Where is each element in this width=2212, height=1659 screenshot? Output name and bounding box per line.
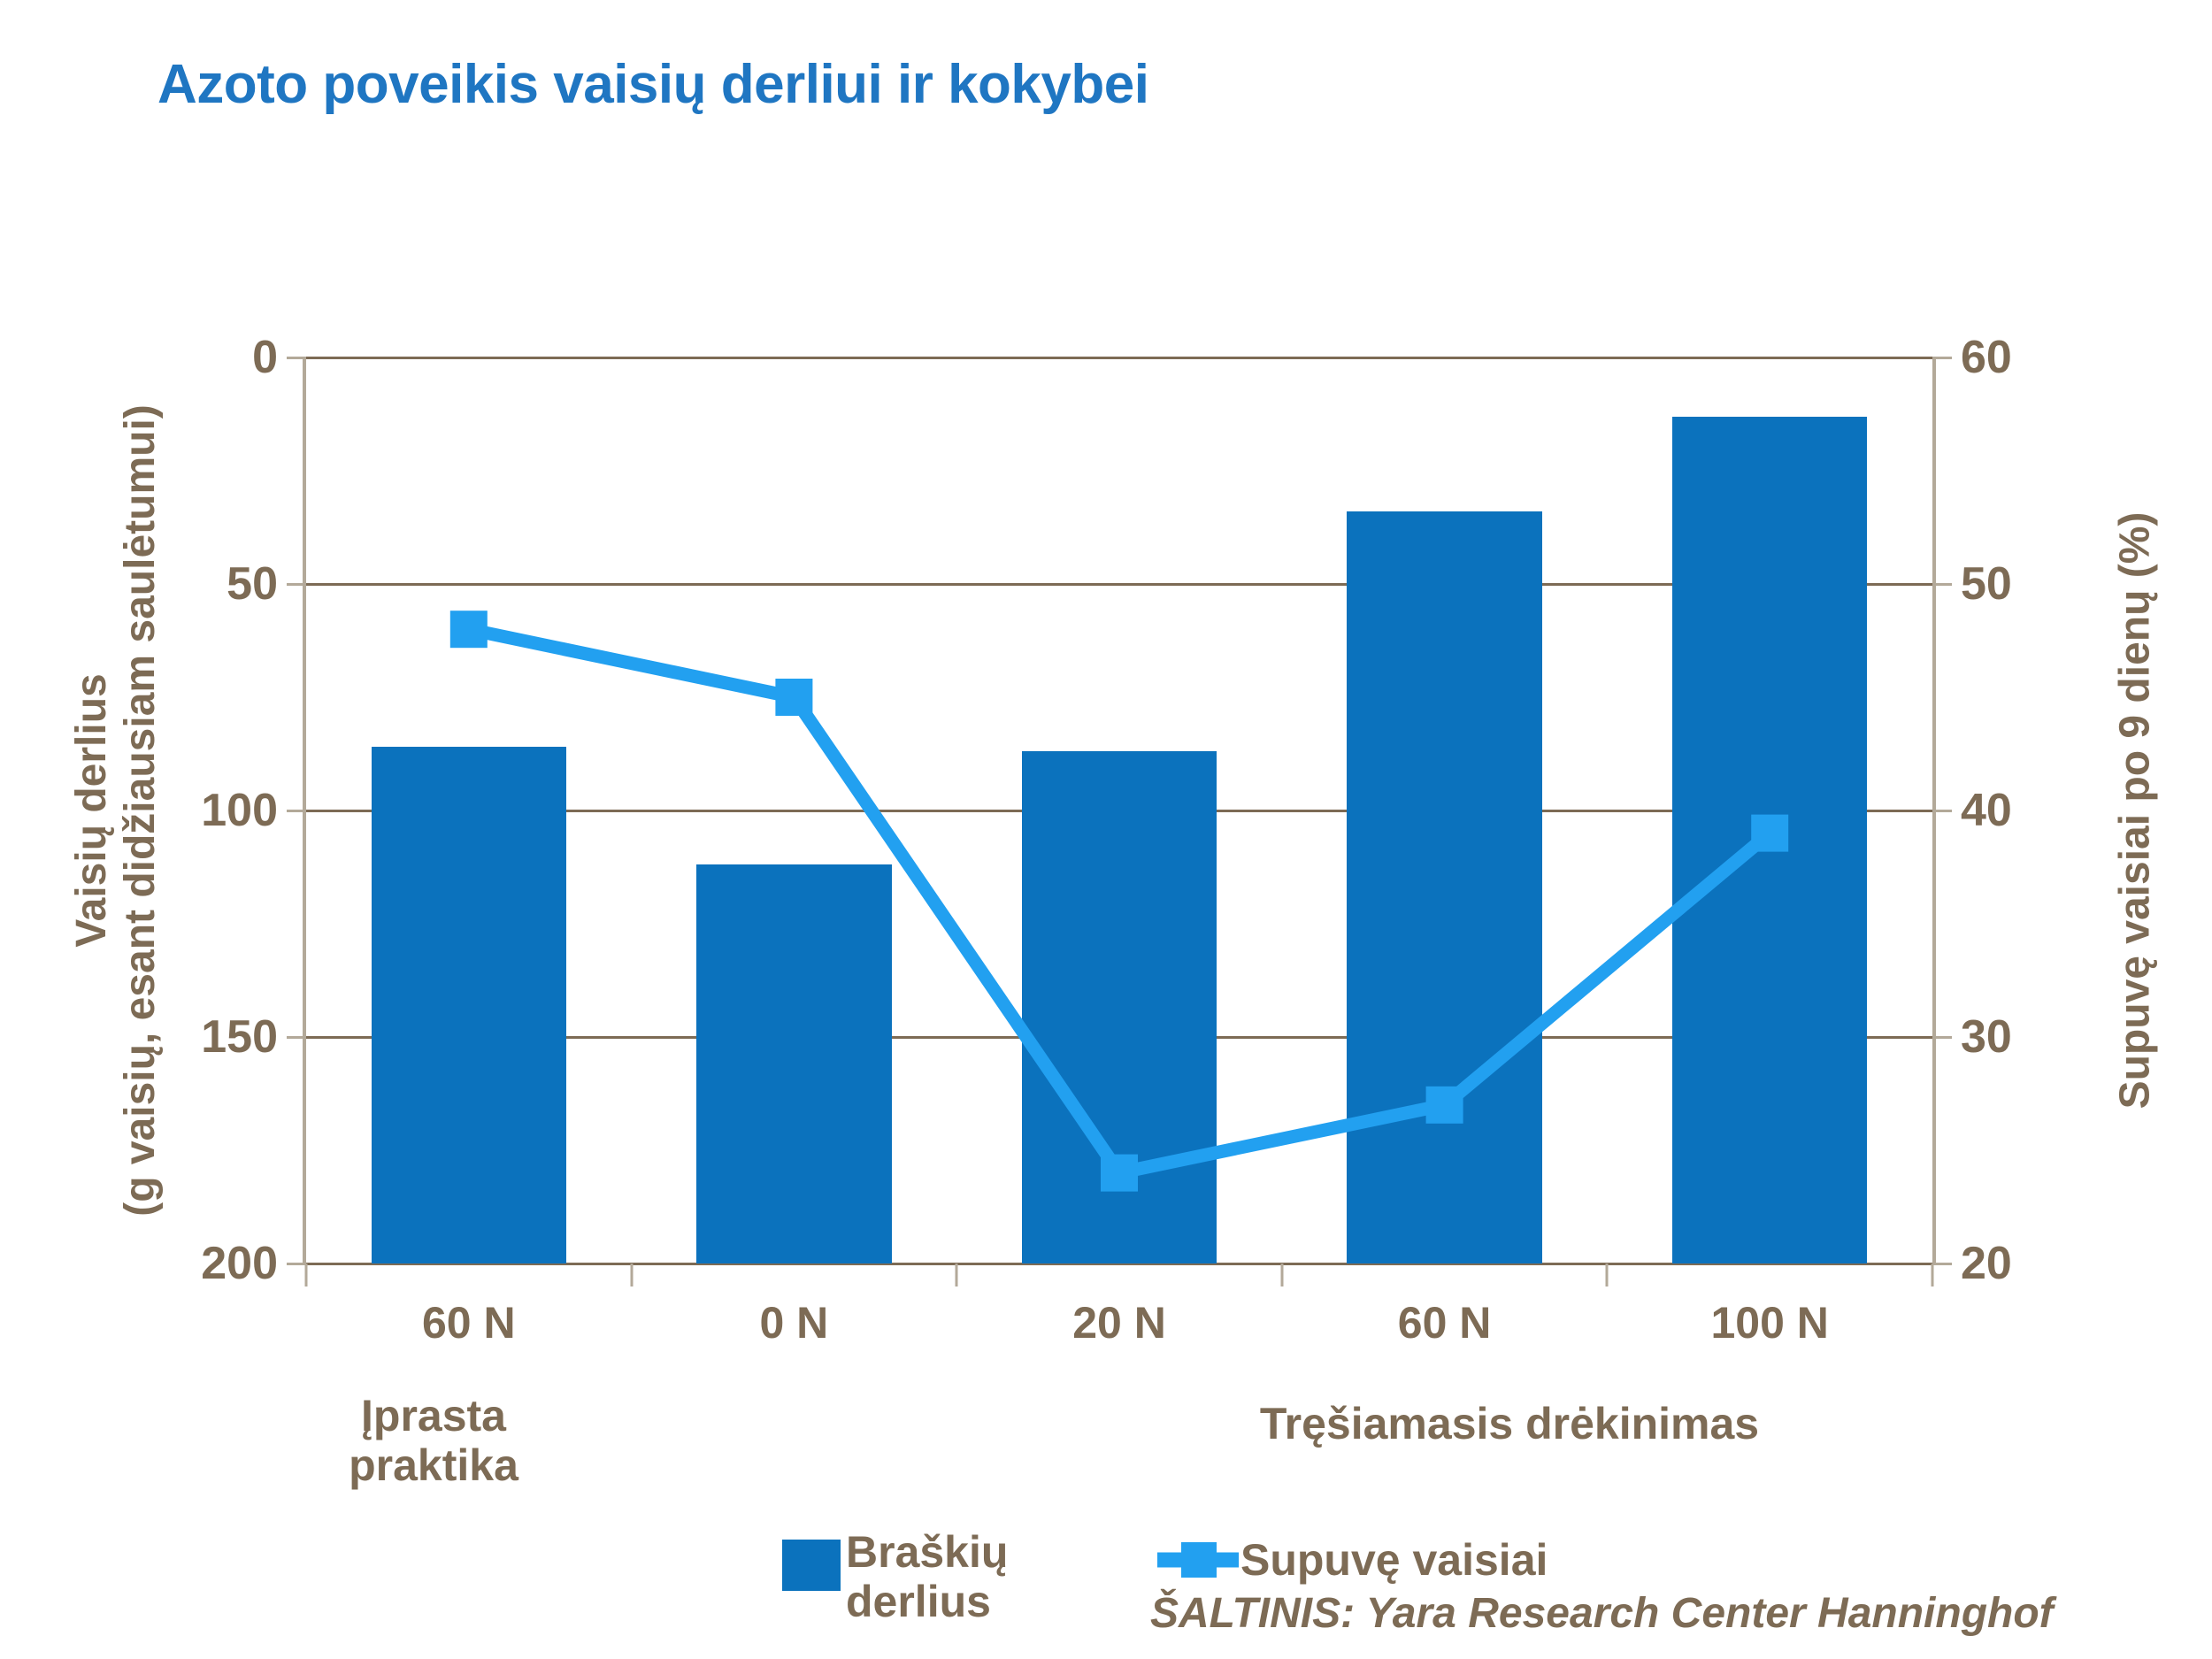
x-group-left-line2: praktika (310, 1440, 557, 1490)
y-axis-left-tick-label: 200 (201, 1237, 278, 1290)
y-axis-left-tick-label: 150 (201, 1010, 278, 1064)
legend-bar-label: Braškių derlius (846, 1527, 1008, 1626)
y-axis-left-title-line2: (g vaisių, esant didžiausiam saulėtumui) (116, 404, 165, 1217)
legend-line-marker-icon (1157, 1535, 1239, 1585)
y-axis-left-tick-label: 100 (201, 784, 278, 837)
x-axis-group-label-left: Įprasta praktika (310, 1391, 557, 1490)
y-axis-right-tick-label: 60 (1961, 331, 2012, 384)
y-axis-left-tick (287, 810, 306, 812)
legend-bar-swatch-icon (782, 1540, 841, 1591)
legend-bar-label-line1: Braškių (846, 1527, 1008, 1577)
y-axis-right-tick-label: 50 (1961, 557, 2012, 611)
legend-bar-label-line2: derlius (846, 1577, 1008, 1626)
y-axis-right-title-text: Supuvę vaisiai po 9 dienų (%) (2111, 512, 2160, 1110)
source-note: ŠALTINIS: Yara Research Center Hanningho… (1150, 1589, 2054, 1638)
x-axis-tick (630, 1263, 633, 1286)
x-axis-tick-label: 100 N (1710, 1297, 1828, 1348)
legend-line-square-icon (1181, 1542, 1217, 1578)
legend-item-bar[interactable]: Braškių derlius (782, 1527, 1008, 1626)
y-axis-left-tick (287, 1036, 306, 1039)
line-series-supuve-vaisiai (306, 357, 1932, 1263)
x-axis-tick (956, 1263, 958, 1286)
y-axis-right-tick-label: 20 (1961, 1237, 2012, 1290)
y-axis-left-tick-label: 0 (252, 331, 278, 384)
y-axis-left-tick (287, 357, 306, 359)
x-axis-tick (1280, 1263, 1283, 1286)
legend-line-label: Supuvę vaisiai (1240, 1534, 1548, 1586)
y-axis-right-tick-label: 30 (1961, 1010, 2012, 1064)
y-axis-left-title: Vaisių derlius (g vaisių, esant didžiaus… (41, 357, 191, 1263)
y-axis-right-tick (1932, 810, 1952, 812)
x-axis-group-label-right: Tręšiamasis drėkinimas (1191, 1398, 1828, 1449)
x-axis-tick (305, 1263, 308, 1286)
x-group-left-line1: Įprasta (310, 1391, 557, 1440)
plot-area: 2001501005006050403020 60 N0 N20 N60 N10… (303, 357, 1936, 1263)
y-axis-right-tick (1932, 357, 1952, 359)
y-axis-left-tick-label: 50 (227, 557, 278, 611)
y-axis-right-tick (1932, 1036, 1952, 1039)
y-axis-left-tick (287, 1263, 306, 1265)
line-marker (450, 611, 488, 648)
y-axis-left-tick (287, 583, 306, 586)
x-axis-tick (1606, 1263, 1609, 1286)
y-axis-right-tick-label: 40 (1961, 784, 2012, 837)
page-title: Azoto poveikis vaisių derliui ir kokybei (157, 53, 1148, 116)
y-axis-left-title-line1: Vaisių derlius (67, 404, 116, 1217)
y-axis-right-title: Supuvę vaisiai po 9 dienų (%) (2078, 357, 2193, 1263)
x-axis-tick-label: 20 N (1072, 1297, 1166, 1348)
legend-item-line[interactable]: Supuvę vaisiai (1157, 1534, 1548, 1586)
x-axis-tick-label: 60 N (422, 1297, 516, 1348)
x-axis-tick (1932, 1263, 1934, 1286)
line-marker (1101, 1155, 1138, 1192)
line-path (469, 629, 1770, 1172)
line-marker (775, 679, 812, 716)
line-marker (1751, 815, 1788, 852)
x-axis-tick-label: 60 N (1398, 1297, 1492, 1348)
x-axis-tick-label: 0 N (759, 1297, 828, 1348)
y-axis-right-tick (1932, 583, 1952, 586)
y-axis-right-tick (1932, 1263, 1952, 1265)
line-marker (1426, 1087, 1463, 1124)
